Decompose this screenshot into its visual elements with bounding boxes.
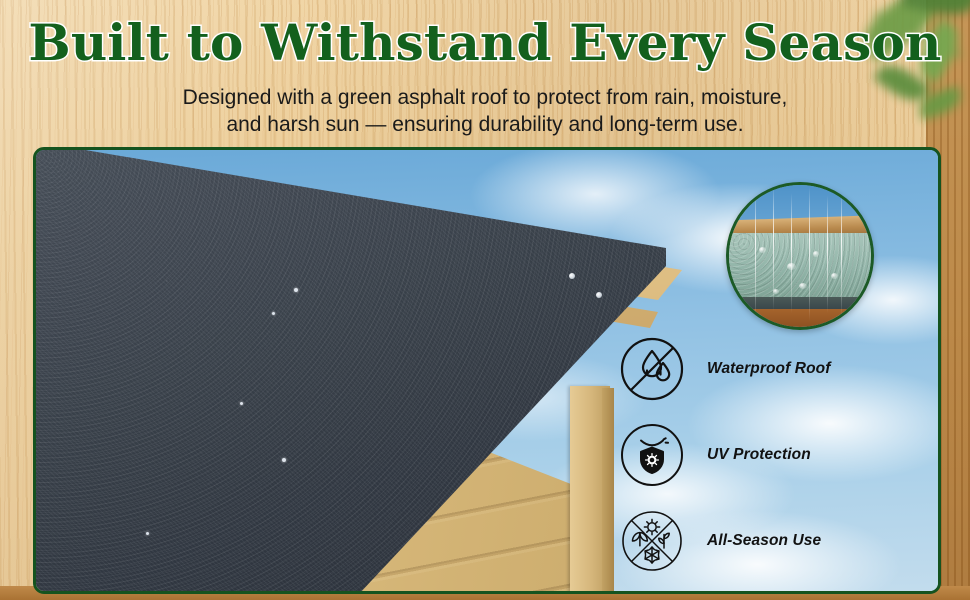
promo-banner: Built to Withstand Every Season Designed… [0,0,970,600]
feature-item-uv-protection: UV Protection [611,414,941,496]
roof-screw [596,292,602,298]
waterproof-droplets-icon [619,336,685,402]
roof-screw [569,273,575,279]
roof-detail-inset [726,182,874,330]
subtitle-line-2: and harsh sun — ensuring durability and … [0,111,970,138]
water-bead [799,283,807,289]
roof-speck [294,288,298,292]
roof-speck [240,402,243,405]
page-subtitle: Designed with a green asphalt roof to pr… [0,84,970,138]
water-bead [773,289,779,294]
inset-green-asphalt [729,233,871,301]
page-title: Built to Withstand Every Season [0,14,970,72]
rain-streak [827,195,828,313]
four-seasons-icon [619,508,685,574]
product-photo: Waterproof Roof [33,147,941,594]
water-bead [787,263,796,270]
roof-speck [282,458,286,462]
feature-label: All-Season Use [707,532,821,550]
roof-speck [272,312,275,315]
rain-streak [809,187,810,321]
feature-item-all-season-use: All-Season Use [611,500,941,582]
subtitle-line-1: Designed with a green asphalt roof to pr… [0,84,970,111]
feature-list: Waterproof Roof [611,328,941,582]
water-bead [813,251,819,257]
water-bead [831,273,838,279]
rain-streak [841,189,842,317]
roof-speck [146,532,149,535]
rain-streak [755,189,756,321]
rain-streak [791,193,792,313]
feature-label: Waterproof Roof [707,360,830,378]
feature-item-waterproof-roof: Waterproof Roof [611,328,941,410]
inset-wood-panel [729,309,871,327]
feature-label: UV Protection [707,446,811,464]
water-bead [759,247,766,253]
uv-shield-sun-icon [619,422,685,488]
